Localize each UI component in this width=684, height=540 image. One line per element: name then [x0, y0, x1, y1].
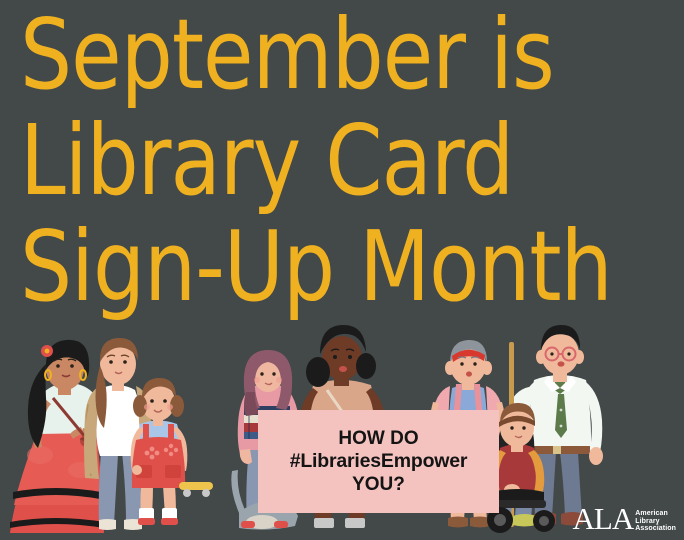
ala-word-american: American: [635, 510, 676, 518]
ala-logo-mark: ALA: [573, 503, 634, 534]
protest-sign: HOW DO #LibrariesEmpower YOU?: [258, 410, 499, 513]
ala-logo-wordmark: American Library Association: [635, 510, 676, 533]
sign-line-2: #LibrariesEmpower: [290, 450, 468, 473]
figure-girl-with-skateboard: [131, 378, 213, 525]
skateboard: [179, 482, 213, 497]
sign-line-1: HOW DO: [338, 427, 418, 450]
ala-logo: ALA American Library Association: [573, 503, 677, 534]
sign-line-3: YOU?: [352, 473, 405, 496]
ala-word-association: Association: [635, 525, 676, 533]
poster-canvas: September is Library Card Sign-Up Month: [0, 0, 684, 540]
ala-word-library: Library: [635, 518, 676, 526]
